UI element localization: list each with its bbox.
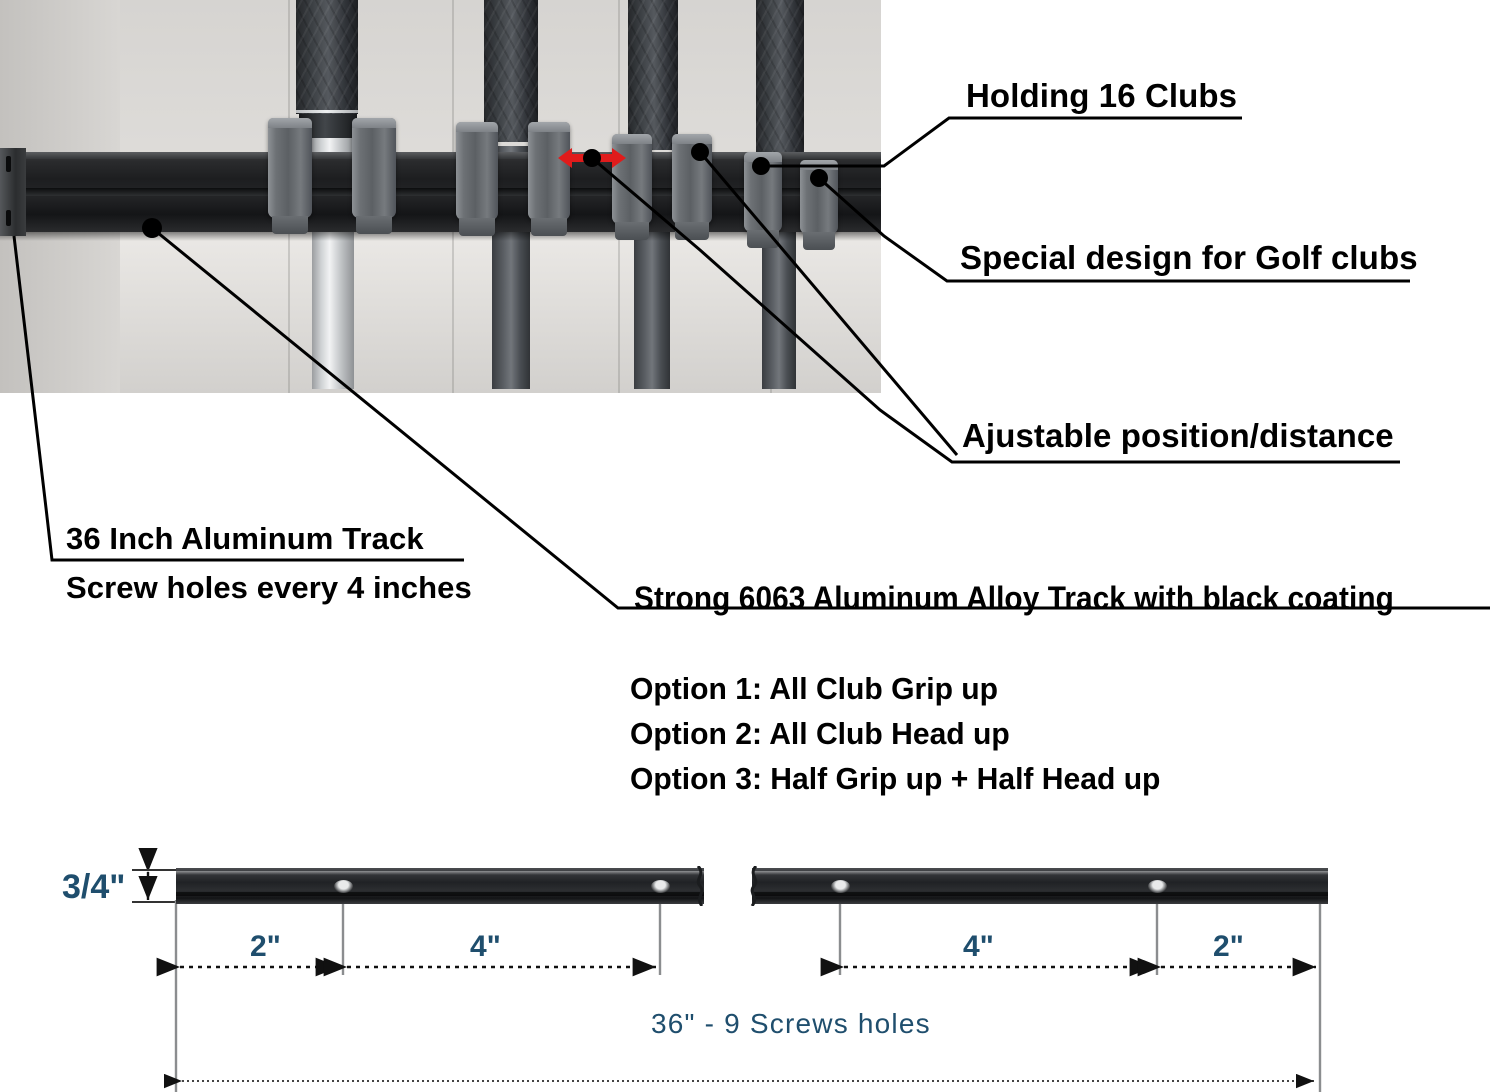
club-clip	[456, 122, 498, 220]
option-3: Option 3: Half Grip up + Half Head up	[630, 761, 1160, 797]
infographic-canvas: Holding 16 Clubs Special design for Golf…	[0, 0, 1500, 1092]
callout-special-design: Special design for Golf clubs	[960, 239, 1418, 277]
product-photo	[0, 0, 881, 393]
club-clip	[528, 122, 570, 220]
callout-adjustable-position: Ajustable position/distance	[962, 417, 1394, 455]
track-end-cap	[0, 148, 26, 236]
dimension-segment-1: 2"	[250, 930, 281, 964]
club-clip	[352, 118, 396, 218]
dimension-segment-3: 4"	[963, 930, 994, 964]
callout-holding-clubs: Holding 16 Clubs	[966, 77, 1237, 115]
screw-hole	[831, 880, 850, 893]
adjustable-distance-arrow-icon	[556, 145, 628, 171]
screw-hole	[334, 880, 353, 893]
club-clip	[800, 160, 838, 234]
club-clip	[672, 134, 712, 224]
option-1: Option 1: All Club Grip up	[630, 671, 998, 707]
callout-alloy-track: Strong 6063 Aluminum Alloy Track with bl…	[634, 580, 1394, 617]
callout-screw-holes: Screw holes every 4 inches	[66, 570, 472, 606]
dimension-segment-2: 4"	[470, 930, 501, 964]
dimension-total: 36" - 9 Screws holes	[651, 1008, 931, 1040]
club-clip	[268, 118, 312, 218]
callout-36-inch-track: 36 Inch Aluminum Track	[66, 521, 424, 557]
dimension-thickness: 3/4"	[62, 868, 125, 907]
screw-hole	[1148, 880, 1167, 893]
club-clip	[744, 152, 782, 232]
dimension-segment-4: 2"	[1213, 930, 1244, 964]
track-diagram-left-segment	[176, 868, 706, 904]
screw-hole	[651, 880, 670, 893]
option-2: Option 2: All Club Head up	[630, 716, 1010, 752]
track-break-symbol	[696, 866, 768, 906]
